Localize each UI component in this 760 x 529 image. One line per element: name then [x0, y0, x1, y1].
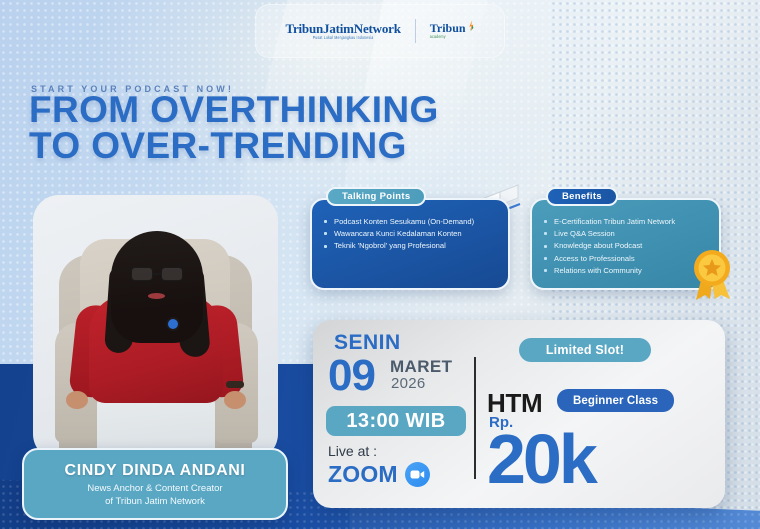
flame-icon — [467, 20, 475, 37]
headline-line-1: FROM OVERTHINKING — [29, 92, 439, 128]
list-item: Live Q&A Session — [543, 228, 708, 239]
speaker-hand-left — [66, 391, 88, 409]
event-month: MARET — [390, 357, 452, 377]
logo-secondary-name: Tribun — [430, 22, 466, 34]
page-title: FROM OVERTHINKING TO OVER-TRENDING — [29, 92, 439, 164]
list-item: Teknik 'Ngobrol' yang Profesional — [323, 240, 495, 251]
eyeglasses-icon — [129, 267, 185, 281]
speaker-role-line-2: of Tribun Jatim Network — [105, 496, 205, 507]
talking-points-list: Podcast Konten Sesukamu (On-Demand) Wawa… — [323, 216, 495, 252]
logo-primary-tagline: Pusat Lokal Menjangkau Indonesia — [313, 36, 374, 40]
award-medal-icon — [688, 246, 736, 302]
speaker-lips — [148, 293, 165, 299]
list-item: Access to Professionals — [543, 253, 708, 264]
list-item: Wawancara Kunci Kedalaman Konten — [323, 228, 495, 239]
tribun-academy-logo: Tribun academy — [430, 22, 475, 40]
list-item: Knowledge about Podcast — [543, 240, 708, 251]
tribun-jatim-network-logo: TribunJatimNetwork Pusat Lokal Menjangka… — [285, 22, 400, 40]
list-item: E-Certification Tribun Jatim Network — [543, 216, 708, 227]
headline-line-2: TO OVER-TRENDING — [29, 128, 439, 164]
speaker-name-plate: CINDY DINDA ANDANI News Anchor & Content… — [22, 448, 288, 520]
podcast-event-poster: TribunJatimNetwork Pusat Lokal Menjangka… — [0, 0, 760, 529]
talking-points-title: Talking Points — [326, 187, 426, 206]
event-year: 2026 — [391, 375, 426, 392]
limited-slot-badge: Limited Slot! — [519, 338, 651, 362]
speaker-hand-right — [224, 391, 246, 409]
logo-divider — [415, 19, 416, 43]
speaker-wristwatch — [226, 381, 244, 388]
logo-primary-name: TribunJatimNetwork — [285, 22, 400, 35]
speaker-name: CINDY DINDA ANDANI — [65, 462, 246, 480]
live-at-label: Live at : — [328, 443, 377, 459]
talking-points-box: Talking Points Podcast Konten Sesukamu (… — [310, 198, 510, 290]
clip-microphone-icon — [168, 319, 178, 329]
event-time-badge: 13:00 WIB — [326, 406, 466, 436]
benefits-list: E-Certification Tribun Jatim Network Liv… — [543, 216, 708, 276]
speaker-photo — [33, 195, 278, 460]
speaker-hair — [111, 231, 203, 343]
class-level-badge: Beginner Class — [557, 389, 674, 412]
logo-secondary-tagline: academy — [430, 36, 466, 41]
logo-bar: TribunJatimNetwork Pusat Lokal Menjangka… — [255, 4, 505, 58]
speaker-role: News Anchor & Content Creator of Tribun … — [87, 483, 222, 508]
zoom-camera-icon — [405, 462, 430, 487]
benefits-title: Benefits — [546, 187, 618, 206]
list-item: Relations with Community — [543, 265, 708, 276]
platform-name: ZOOM — [328, 461, 398, 488]
list-item: Podcast Konten Sesukamu (On-Demand) — [323, 216, 495, 227]
card-vertical-divider — [474, 357, 476, 479]
speaker-role-line-1: News Anchor & Content Creator — [87, 483, 222, 494]
price-amount: 20k — [487, 424, 595, 494]
event-day-number: 09 — [328, 354, 375, 398]
platform-row: ZOOM — [328, 461, 430, 488]
